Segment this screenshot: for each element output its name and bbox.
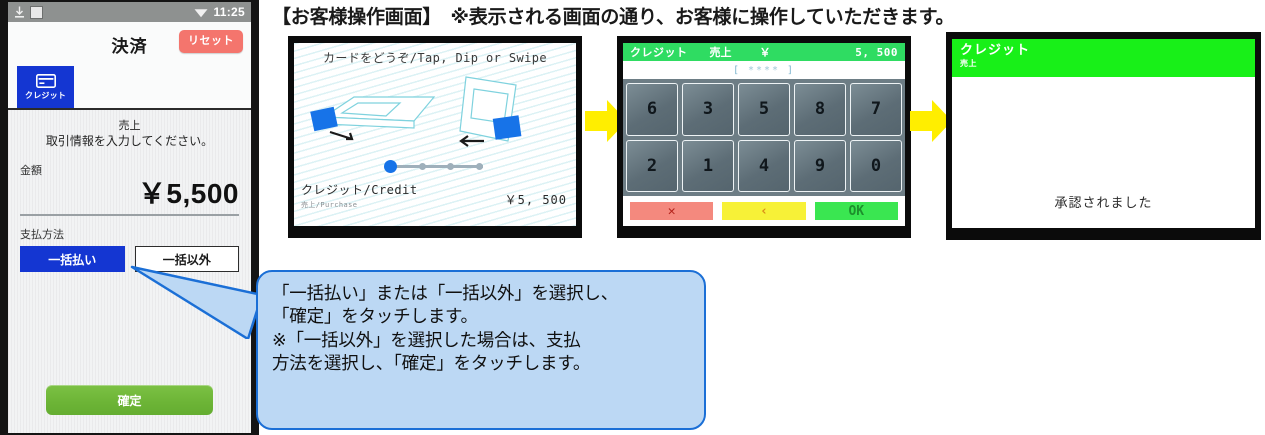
progress-dot: [476, 163, 483, 170]
card-prompt-title: カードをどうぞ/Tap, Dip or Swipe: [294, 49, 576, 66]
page-title: 決済: [112, 32, 148, 57]
payment-method-label: 支払方法: [20, 226, 239, 242]
callout-line-4: 方法を選択し、「確定」をタッチします。: [272, 352, 690, 375]
tab-credit-label: クレジット: [25, 90, 66, 101]
pin-bar-brand: クレジット: [630, 44, 688, 60]
callout-balloon: 「一括払い」または「一括以外」を選択し、 「確定」をタッチします。 ※「一括以外…: [256, 270, 706, 430]
card-terminal-illustration: [294, 69, 576, 155]
keypad-row-1: 6 3 5 8 7: [626, 83, 902, 136]
pin-entry-top-bar: クレジット 売上 ￥ 5, 500: [623, 43, 905, 61]
status-bar: 11:25: [8, 2, 251, 22]
card-prompt-amount: ￥5, 500: [505, 191, 567, 208]
callout-line-3: ※「一括以外」を選択した場合は、支払: [272, 329, 690, 352]
phone-screen: 11:25 決済 リセット クレジット 売上: [8, 2, 251, 433]
callout-line-1: 「一括払い」または「一括以外」を選択し、: [272, 282, 690, 305]
download-icon: [14, 6, 25, 18]
instruction-line-2: 取引情報を入力してください。: [20, 134, 239, 150]
status-bar-clock: 11:25: [213, 5, 245, 19]
page-header: 【お客様操作画面】 ※表示される画面の通り、お客様に操作していただきます。: [272, 2, 1262, 28]
keypad-key[interactable]: 2: [626, 140, 678, 193]
wifi-icon: [194, 7, 208, 18]
pin-bar-type: 売上: [710, 44, 732, 60]
phone-device: 11:25 決済 リセット クレジット 売上: [0, 0, 259, 435]
confirm-button-wrap: 確定: [8, 385, 251, 415]
keypad-key[interactable]: 4: [738, 140, 790, 193]
tab-credit[interactable]: クレジット: [17, 66, 74, 108]
pin-display-row: [ **** ]: [623, 61, 905, 79]
card-prompt-sub: 売上/Purchase: [301, 200, 418, 210]
progress-dots: [294, 165, 576, 168]
approved-content: クレジット 売上 承認されました: [952, 39, 1255, 228]
app-icon: [30, 6, 43, 19]
keypad-key[interactable]: 9: [794, 140, 846, 193]
pin-bar-amount: 5, 500: [855, 46, 898, 59]
page-root: 11:25 決済 リセット クレジット 売上: [0, 0, 1265, 435]
pin-bracket-right: ]: [787, 65, 795, 76]
pin-action-row: ✕ ‹ OK: [623, 196, 905, 226]
terminal-screen-approved: クレジット 売上 承認されました: [946, 32, 1261, 240]
pin-bracket-left: [: [733, 65, 741, 76]
amount-label: 金額: [20, 162, 239, 178]
keypad-key[interactable]: 8: [794, 83, 846, 136]
cancel-button[interactable]: ✕: [630, 202, 713, 220]
keypad-row-2: 2 1 4 9 0: [626, 140, 902, 193]
progress-dot-active: [384, 160, 397, 173]
tab-bar: クレジット: [8, 66, 251, 110]
progress-dot-line: [387, 165, 483, 168]
callout-line-2: 「確定」をタッチします。: [272, 305, 690, 328]
credit-card-icon: [36, 74, 56, 88]
confirm-button[interactable]: 確定: [46, 385, 213, 415]
status-bar-right: 11:25: [194, 5, 245, 19]
ok-button[interactable]: OK: [815, 202, 898, 220]
instruction-line-1: 売上: [20, 119, 239, 134]
phone-title-bar: 決済 リセット: [8, 22, 251, 66]
pin-bar-currency: ￥: [760, 44, 771, 60]
keypad-key[interactable]: 6: [626, 83, 678, 136]
reset-button[interactable]: リセット: [179, 30, 243, 53]
approved-message: 承認されました: [952, 192, 1255, 211]
approved-bar-title: クレジット: [960, 43, 1247, 57]
keypad-key[interactable]: 3: [682, 83, 734, 136]
card-prompt-brand-block: クレジット/Credit 売上/Purchase: [301, 181, 418, 210]
pin-masked-value: ****: [741, 65, 787, 76]
card-prompt-brand: クレジット/Credit: [301, 181, 418, 198]
approved-top-bar: クレジット 売上: [952, 39, 1255, 77]
terminal-screen-pin-entry: クレジット 売上 ￥ 5, 500 [ **** ] 6 3 5 8 7: [617, 36, 911, 238]
keypad-key[interactable]: 7: [850, 83, 902, 136]
amount-divider: [20, 214, 239, 216]
card-prompt-content: カードをどうぞ/Tap, Dip or Swipe: [294, 43, 576, 226]
payment-option-lump-sum[interactable]: 一括払い: [20, 246, 125, 272]
progress-dot: [419, 163, 426, 170]
approved-bar-sub: 売上: [960, 58, 1247, 69]
instruction-block: 売上 取引情報を入力してください。: [20, 110, 239, 149]
callout-tail: [130, 247, 265, 339]
amount-value: ￥5,500: [20, 180, 239, 208]
keypad-key[interactable]: 5: [738, 83, 790, 136]
backspace-button[interactable]: ‹: [722, 202, 805, 220]
keypad-key[interactable]: 0: [850, 140, 902, 193]
terminal-screen-card-prompt: カードをどうぞ/Tap, Dip or Swipe: [288, 36, 582, 238]
pin-keypad: 6 3 5 8 7 2 1 4 9 0: [623, 79, 905, 196]
keypad-key[interactable]: 1: [682, 140, 734, 193]
pin-entry-content: クレジット 売上 ￥ 5, 500 [ **** ] 6 3 5 8 7: [623, 43, 905, 226]
status-bar-left: [14, 6, 43, 19]
